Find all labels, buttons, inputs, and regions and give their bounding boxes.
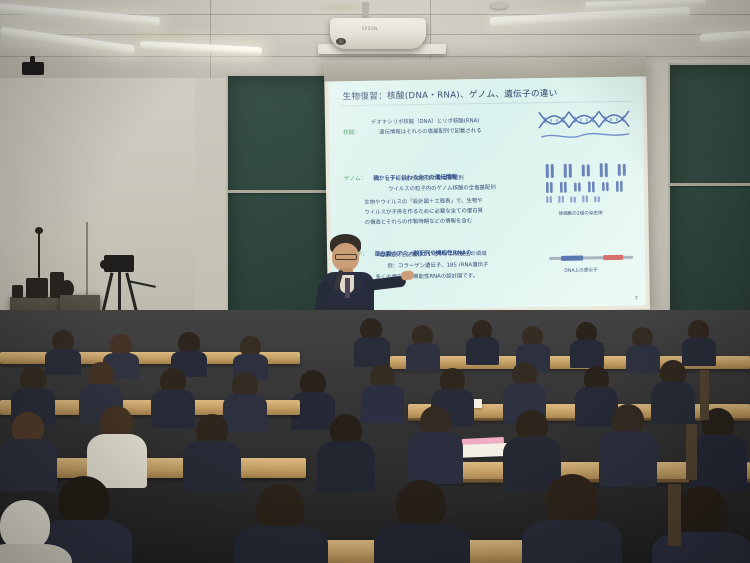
mic-stand-icon [38, 232, 40, 278]
chromosome-pairs-icon [542, 161, 635, 208]
section-line: デオキシリボ核酸（DNA）とリボ核酸(RNA) [371, 116, 480, 126]
slide-number: 7 [635, 296, 638, 302]
section-label: 核酸： [343, 130, 360, 136]
chromosome-caption: 体細胞の2組の染色体 [558, 210, 602, 217]
slide-section-nucleic-acid: 核酸： デオキシリボ核酸（DNA）とリボ核酸(RNA) 遺伝情報はそれらの塩基配… [343, 119, 360, 138]
gene-segment-red [603, 254, 623, 259]
bench-support [700, 370, 709, 420]
dna-double-helix-icon [537, 107, 634, 143]
blackboard-right [668, 63, 750, 329]
section-line: の構造とそれらの作製時期などの情報を含む [364, 216, 472, 226]
section-line: ウイルスが子孫を作るために必要な全ての蛋白質 [364, 206, 483, 216]
corner-camera-mount [30, 56, 35, 64]
slide-section-genome: ゲノム： 親から子に伝わる全ての遺伝情報 例：ヒトの1組の染色体の全塩基配列 ウ… [344, 163, 458, 184]
gene-caption: DNA上の遺伝子 [564, 267, 597, 274]
wall-cable [86, 222, 88, 300]
section-line: 例：ヒトの1組の染色体の全塩基配列 [374, 173, 464, 182]
section-label: ゲノム： [344, 176, 366, 182]
gene-segment-blue [561, 255, 583, 260]
chalk-rail-right [670, 183, 750, 186]
projector-lens-icon [336, 38, 346, 45]
lecturer-hand [400, 270, 414, 281]
lecturer-tie [345, 278, 350, 298]
section-line: 遺伝情報はそれらの塩基配列で記載される [379, 126, 482, 136]
smoke-detector-icon [490, 2, 508, 9]
line-text-pre: 生物やウイルスの「設計図＋工程表」で、生物や [364, 198, 482, 206]
slide-title: 生物復習：核酸(DNA・RNA)、ゲノム、遺伝子の違い [342, 87, 557, 102]
projector-arm [362, 2, 369, 18]
projector-brand-label: EPSON [362, 26, 378, 31]
cabinet-equipment [26, 278, 48, 298]
section-line: 生物やウイルスの「設計図＋工程表」で、生物や [364, 196, 483, 206]
section-line: ウイルスの粒子内のゲノム核酸の全塩基配列 [388, 183, 496, 193]
bench-support [686, 424, 697, 480]
bench-support [668, 484, 681, 546]
mic-head-icon [35, 227, 43, 234]
gene-on-dna-icon [549, 253, 633, 264]
glasses-icon [335, 254, 357, 260]
projector [330, 18, 426, 49]
lecture-hall-photo: EPSON 生物復習：核酸(DNA・RNA)、ゲノム、遺伝子の違い 核酸： デオ… [0, 0, 750, 563]
chalk-rail-left [228, 190, 333, 193]
video-camera-lens-icon [100, 260, 108, 269]
cabinet-equipment [12, 285, 23, 298]
